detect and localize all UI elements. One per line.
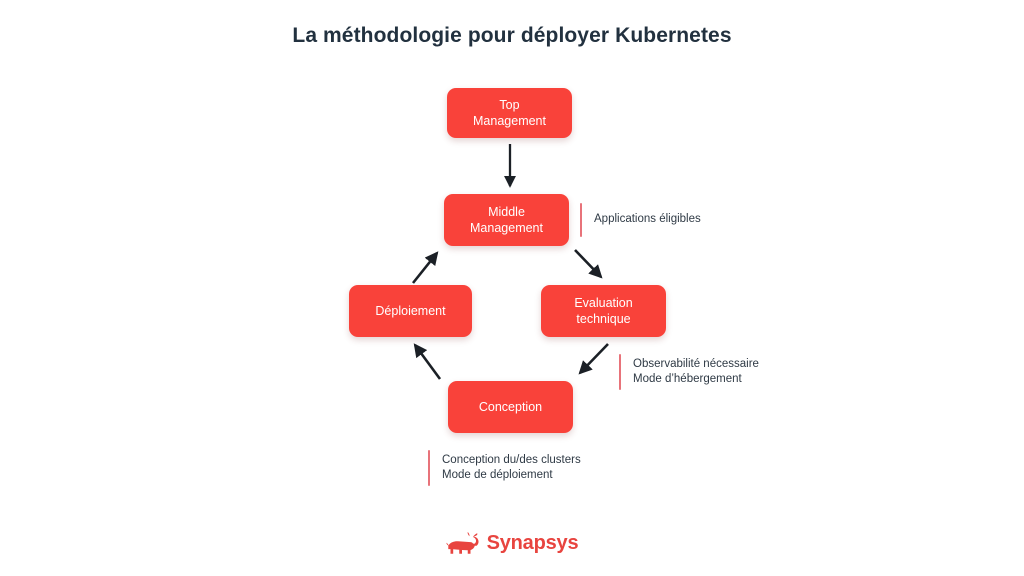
page-title: La méthodologie pour déployer Kubernetes <box>0 24 1024 48</box>
node-deploiement-label: Déploiement <box>375 303 445 319</box>
node-top-management[interactable]: Top Management <box>447 88 572 138</box>
annotation-conception-clusters: Conception du/des clusters Mode de déplo… <box>428 450 581 486</box>
arrow-middle-to-evaluation <box>575 250 601 277</box>
node-evaluation-technique[interactable]: Evaluation technique <box>541 285 666 337</box>
node-conception-label: Conception <box>479 399 542 415</box>
annotation-line: Observabilité nécessaire <box>633 357 759 373</box>
arrow-deploiement-to-middle <box>413 253 437 283</box>
annotation-line: Conception du/des clusters <box>442 453 581 469</box>
annotation-line: Mode de déploiement <box>442 468 581 484</box>
node-evaluation-technique-label: Evaluation technique <box>549 295 658 327</box>
rhino-icon <box>446 530 480 556</box>
node-top-management-label-line2: Management <box>473 114 546 128</box>
brand-logo: Synapsys <box>0 530 1024 556</box>
arrow-evaluation-to-conception <box>580 344 608 373</box>
annotation-applications-eligibles: Applications éligibles <box>580 203 701 237</box>
annotation-observabilite: Observabilité nécessaire Mode d’hébergem… <box>619 354 759 390</box>
node-middle-management[interactable]: Middle Management <box>444 194 569 246</box>
annotation-text-block: Applications éligibles <box>582 203 701 237</box>
node-conception[interactable]: Conception <box>448 381 573 433</box>
node-top-management-label-line1: Top <box>499 98 519 112</box>
diagram-canvas: La méthodologie pour déployer Kubernetes… <box>0 0 1024 576</box>
arrow-conception-to-deploiement <box>415 345 440 379</box>
annotation-line: Mode d’hébergement <box>633 372 759 388</box>
annotation-text-block: Observabilité nécessaire Mode d’hébergem… <box>621 354 759 390</box>
brand-wordmark: Synapsys <box>487 532 579 555</box>
annotation-line: Applications éligibles <box>594 212 701 228</box>
node-deploiement[interactable]: Déploiement <box>349 285 472 337</box>
node-top-management-label: Top Management <box>473 97 546 129</box>
arrow-layer <box>0 0 1024 576</box>
node-middle-management-label: Middle Management <box>452 204 561 236</box>
annotation-text-block: Conception du/des clusters Mode de déplo… <box>430 450 581 486</box>
